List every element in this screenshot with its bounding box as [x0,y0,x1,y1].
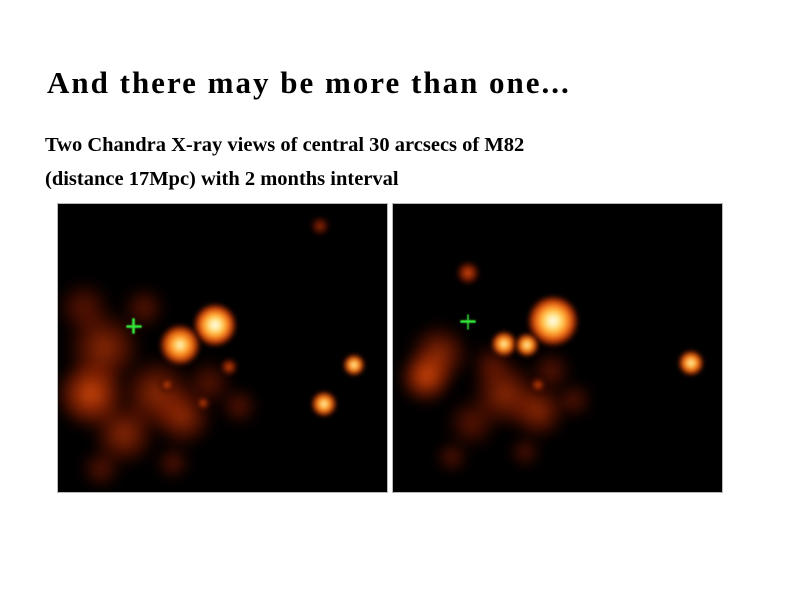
subtitle-block: Two Chandra X-ray views of central 30 ar… [45,128,524,197]
diffuse-emission [217,387,261,425]
xray-source-point-source-e [678,350,704,376]
xray-source-knot-upper [117,255,145,283]
xray-source-point-source-f [311,391,337,417]
xray-source-knot-upper [456,261,480,285]
diffuse-emission [148,386,218,448]
slide-canvas: And there may be more than one... Two Ch… [0,0,800,600]
green-cross-marker [461,314,476,329]
diffuse-emission [467,359,543,429]
diffuse-emission [182,359,236,407]
diffuse-emission [118,286,170,330]
xray-panel-left [57,203,388,493]
diffuse-emission [528,350,574,392]
xray-source-bright-source-b [159,324,201,366]
diffuse-emission [58,279,112,337]
diffuse-emission [114,356,200,432]
diffuse-emission [505,382,571,440]
diffuse-emission [554,382,594,418]
xray-source-knot-g [196,396,210,410]
diffuse-emission [503,437,547,467]
diffuse-emission [467,343,517,387]
diffuse-emission [148,446,198,480]
xray-panel-right [392,203,723,493]
xray-source-bright-source-a [193,303,237,347]
diffuse-emission [408,321,470,387]
xray-source-knot-d [159,377,175,393]
xray-source-bright-source-a [527,295,579,347]
xray-image-figure [57,203,724,493]
diffuse-emission [58,354,127,434]
xray-source-knot-b [491,331,517,357]
page-title: And there may be more than one... [47,66,571,100]
xray-source-knot-c [515,333,539,357]
diffuse-emission [428,441,476,473]
xray-source-point-source-e [343,354,365,376]
xray-source-knot-g [530,377,546,393]
diffuse-emission [399,347,453,407]
sky-canvas-right [393,204,722,492]
sky-canvas-left [58,204,387,492]
green-cross-marker [126,319,141,334]
xray-source-knot-c [220,358,238,376]
diffuse-emission [443,397,501,449]
subtitle-line-2: (distance 17Mpc) with 2 months interval [45,162,524,196]
xray-source-faint-source-top [310,216,330,236]
diffuse-emission [85,401,163,467]
diffuse-emission [64,309,144,387]
xray-source-point-source-f [650,389,668,407]
subtitle-line-1: Two Chandra X-ray views of central 30 ar… [45,128,524,162]
xray-source-knot-d [478,383,498,403]
diffuse-emission [71,449,131,489]
